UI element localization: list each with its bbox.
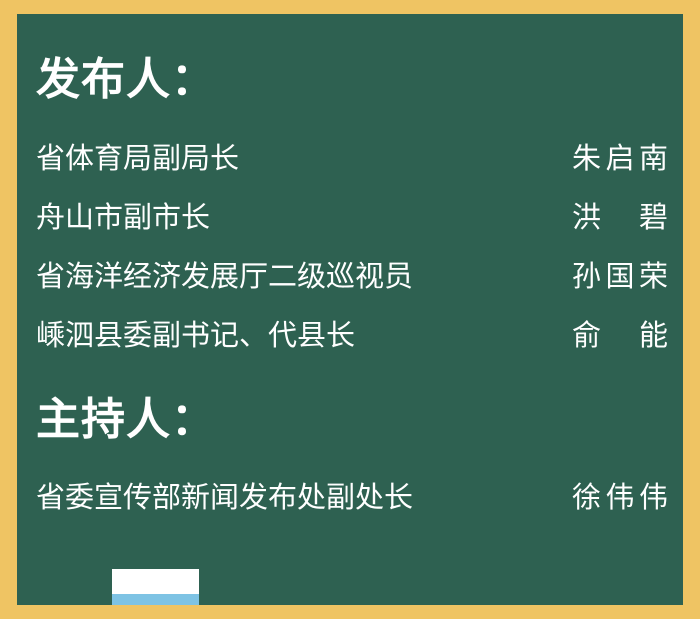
section-heading-host: 主持人： — [36, 398, 216, 442]
host-row: 省委宣传部新闻发布处副处长 徐伟伟 — [36, 476, 668, 520]
section-heading-speakers: 发布人： — [36, 58, 216, 102]
speaker-role: 舟山市副市长 — [36, 204, 210, 233]
speaker-row: 嵊泗县委副书记、代县长 俞能 — [36, 314, 668, 358]
speaker-role: 省海洋经济发展厅二级巡视员 — [36, 263, 413, 292]
speaker-row: 省体育局副局长 朱启南 — [36, 137, 668, 181]
speaker-name: 洪碧 — [572, 204, 668, 233]
speaker-name: 孙国荣 — [572, 263, 668, 292]
host-name: 徐伟伟 — [572, 484, 668, 513]
speaker-row: 省海洋经济发展厅二级巡视员 孙国荣 — [36, 255, 668, 299]
speaker-role: 省体育局副局长 — [36, 145, 239, 174]
speaker-name: 朱启南 — [572, 145, 668, 174]
speaker-row: 舟山市副市长 洪碧 — [36, 196, 668, 240]
poster-card: 发布人： 省体育局副局长 朱启南 舟山市副市长 洪碧 省海洋经济发展厅二级巡视员… — [0, 0, 700, 619]
host-role: 省委宣传部新闻发布处副处长 — [36, 484, 413, 513]
bottom-mark — [112, 569, 199, 605]
bottom-mark-band — [112, 594, 199, 605]
green-panel: 发布人： 省体育局副局长 朱启南 舟山市副市长 洪碧 省海洋经济发展厅二级巡视员… — [17, 14, 683, 605]
speaker-name: 俞能 — [572, 322, 668, 351]
speaker-role: 嵊泗县委副书记、代县长 — [36, 322, 355, 351]
